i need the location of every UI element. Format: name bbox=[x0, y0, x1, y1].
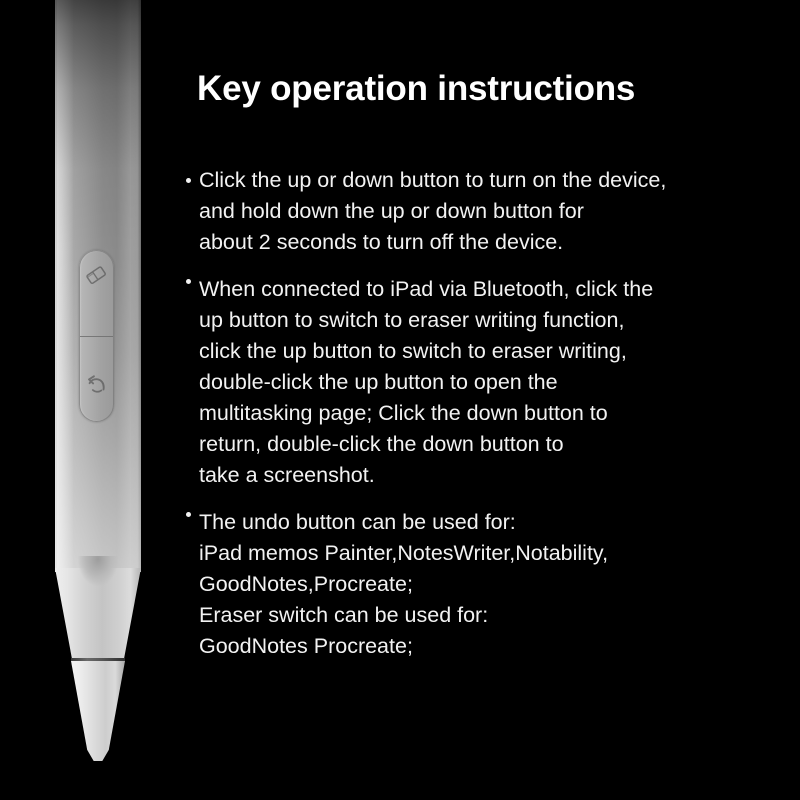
pen-cone bbox=[55, 568, 141, 660]
instruction-item: The undo button can be used for:iPad mem… bbox=[186, 507, 786, 662]
instruction-line: Eraser switch can be used for: bbox=[199, 600, 786, 631]
instruction-line: and hold down the up or down button for bbox=[199, 196, 786, 227]
instruction-line: take a screenshot. bbox=[199, 460, 786, 491]
instruction-line: When connected to iPad via Bluetooth, cl… bbox=[199, 274, 786, 305]
stylus-pen-illustration bbox=[0, 0, 180, 800]
pen-button-divider bbox=[80, 336, 113, 337]
instruction-line: up button to switch to eraser writing fu… bbox=[199, 305, 786, 336]
pen-nib bbox=[71, 661, 125, 762]
page-title: Key operation instructions bbox=[197, 69, 635, 109]
undo-arrow-icon[interactable] bbox=[84, 371, 110, 397]
instruction-line: iPad memos Painter,NotesWriter,Notabilit… bbox=[199, 538, 786, 569]
instruction-line: about 2 seconds to turn off the device. bbox=[199, 227, 786, 258]
instruction-card: Key operation instructions Click the up … bbox=[0, 0, 800, 800]
instruction-line: multitasking page; Click the down button… bbox=[199, 398, 786, 429]
instruction-item: Click the up or down button to turn on t… bbox=[186, 165, 786, 258]
instruction-list: Click the up or down button to turn on t… bbox=[186, 165, 786, 662]
instruction-item: When connected to iPad via Bluetooth, cl… bbox=[186, 274, 786, 491]
instruction-line: click the up button to switch to eraser … bbox=[199, 336, 786, 367]
eraser-icon[interactable] bbox=[83, 262, 109, 288]
instruction-line: double-click the up button to open the bbox=[199, 367, 786, 398]
instruction-line: GoodNotes Procreate; bbox=[199, 631, 786, 662]
bullet-point-icon bbox=[186, 279, 191, 284]
bullet-point-icon bbox=[186, 512, 191, 517]
bullet-point-icon bbox=[186, 178, 191, 183]
instructions-panel: Key operation instructions Click the up … bbox=[186, 0, 786, 800]
instruction-line: GoodNotes,Procreate; bbox=[199, 569, 786, 600]
instruction-line: return, double-click the down button to bbox=[199, 429, 786, 460]
instruction-line: Click the up or down button to turn on t… bbox=[199, 165, 786, 196]
instruction-line: The undo button can be used for: bbox=[199, 507, 786, 538]
